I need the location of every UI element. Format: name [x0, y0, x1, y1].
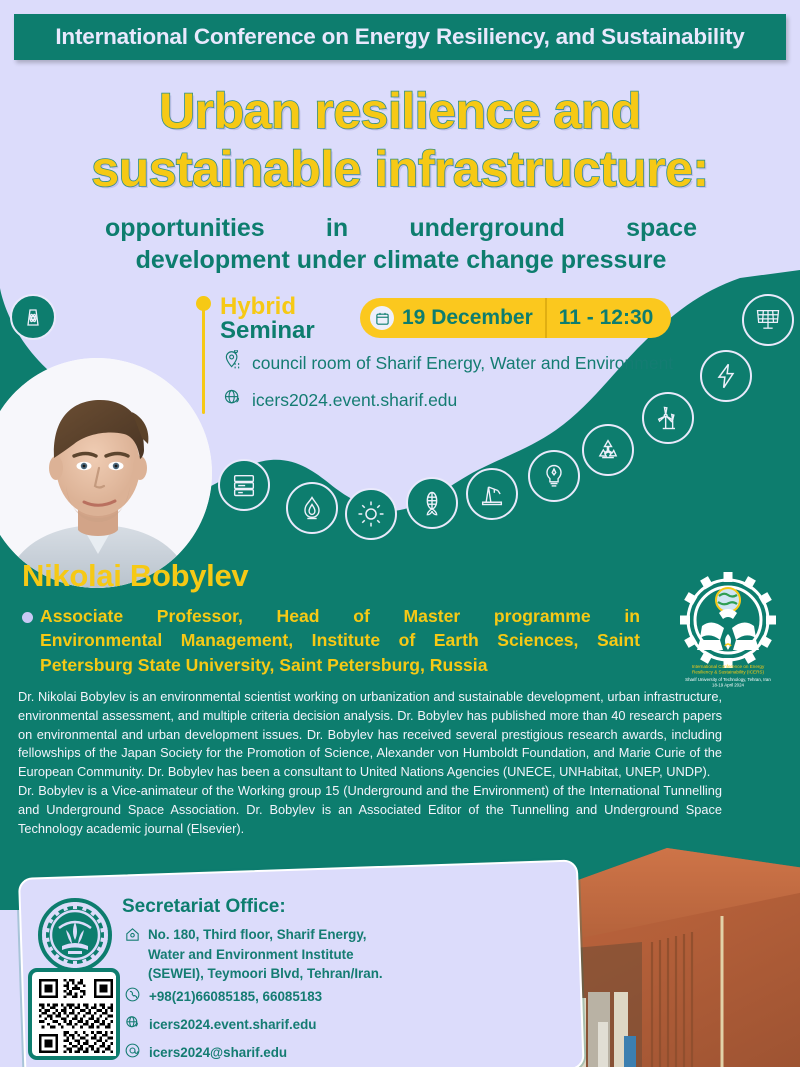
solar-panel-icon	[742, 294, 794, 346]
wind-turbine-icon	[642, 392, 694, 444]
lightning-bolt-icon	[700, 350, 752, 402]
address-line-2: Water and Environment Institute	[148, 947, 354, 962]
event-website: icers2024.event.sharif.edu	[252, 390, 457, 411]
poster-subtitle: opportunities in underground space devel…	[105, 212, 697, 276]
calendar-icon	[370, 306, 394, 330]
secretariat-email-row[interactable]: icers2024@sharif.edu	[124, 1042, 287, 1062]
subtitle-line-1: opportunities in underground space	[105, 212, 697, 244]
event-time: 11 - 12:30	[547, 306, 672, 330]
conference-banner-title: International Conference on Energy Resil…	[55, 24, 744, 50]
address-line-1: No. 180, Third floor, Sharif Energy,	[148, 927, 367, 942]
recycle-icon	[582, 424, 634, 476]
battery-icon	[218, 459, 270, 511]
conference-logo-caption-2: Resiliency & Sustainability (ICERS)	[692, 670, 764, 675]
qr-code[interactable]	[28, 968, 120, 1060]
secretariat-title: Secretariat Office:	[122, 896, 286, 918]
speaker-role-line-3: Petersburg State University, Saint Peter…	[40, 653, 640, 677]
globe-icon	[124, 1014, 141, 1034]
header-banner: International Conference on Energy Resil…	[14, 14, 786, 60]
poster-title: Urban resilience and sustainable infrast…	[0, 82, 800, 198]
conference-logo-caption-4: 18-19 April 2024	[712, 683, 745, 688]
secretariat-email: icers2024@sharif.edu	[149, 1045, 287, 1060]
secretariat-phone-row[interactable]: +98(21)66085185, 66085183	[124, 986, 322, 1006]
secretariat-phone: +98(21)66085185, 66085183	[149, 989, 322, 1004]
date-time-badge: 19 December 11 - 12:30	[360, 298, 671, 338]
globe-icon	[222, 387, 243, 413]
secretariat-address: No. 180, Third floor, Sharif Energy, Wat…	[148, 925, 398, 984]
conference-poster: International Conference on Energy Resil…	[0, 0, 800, 1067]
website-row[interactable]: icers2024.event.sharif.edu	[222, 387, 457, 413]
oil-rig-icon	[466, 468, 518, 520]
address-line-3: (SEWEI), Teymoori Blvd, Tehran/Iran.	[148, 966, 383, 981]
speaker-name: Nikolai Bobylev	[22, 558, 248, 594]
location-pin-icon	[222, 350, 243, 376]
nuclear-plant-icon	[10, 294, 56, 340]
home-pin-icon	[124, 926, 141, 948]
event-date: 19 December	[402, 306, 545, 330]
sun-icon	[345, 488, 397, 540]
title-line-1: Urban resilience and	[0, 82, 800, 140]
venue-row: council room of Sharif Energy, Water and…	[222, 350, 673, 376]
speaker-role: Associate Professor, Head of Master prog…	[40, 604, 640, 677]
at-sign-icon	[124, 1042, 141, 1062]
venue-text: council room of Sharif Energy, Water and…	[252, 353, 673, 374]
conference-logo-caption-1: International Conference on Energy	[692, 664, 765, 669]
phone-icon	[124, 986, 141, 1006]
speaker-biography: Dr. Nikolai Bobylev is an environmental …	[18, 688, 722, 838]
bio-paragraph-1: Dr. Nikolai Bobylev is an environmental …	[18, 688, 722, 782]
event-format-seminar: Seminar	[220, 318, 315, 344]
sharif-university-logo	[38, 898, 112, 972]
speaker-role-bullet	[22, 612, 33, 623]
corn-icon	[406, 477, 458, 529]
secretariat-website: icers2024.event.sharif.edu	[149, 1017, 316, 1032]
lightbulb-icon	[528, 450, 580, 502]
speaker-role-line-1: Associate Professor, Head of Master prog…	[40, 604, 640, 628]
speaker-portrait	[0, 358, 212, 588]
flame-icon	[286, 482, 338, 534]
speaker-role-line-2: Environmental Management, Institute of E…	[40, 628, 640, 652]
conference-logo: International Conference on Energy Resil…	[658, 572, 798, 690]
secretariat-website-row[interactable]: icers2024.event.sharif.edu	[124, 1014, 316, 1034]
title-line-2: sustainable infrastructure:	[0, 140, 800, 198]
bio-paragraph-2: Dr. Bobylev is a Vice-animateur of the W…	[18, 782, 722, 838]
conference-logo-caption-3: Sharif University of Technology, Tehran,…	[685, 677, 771, 682]
